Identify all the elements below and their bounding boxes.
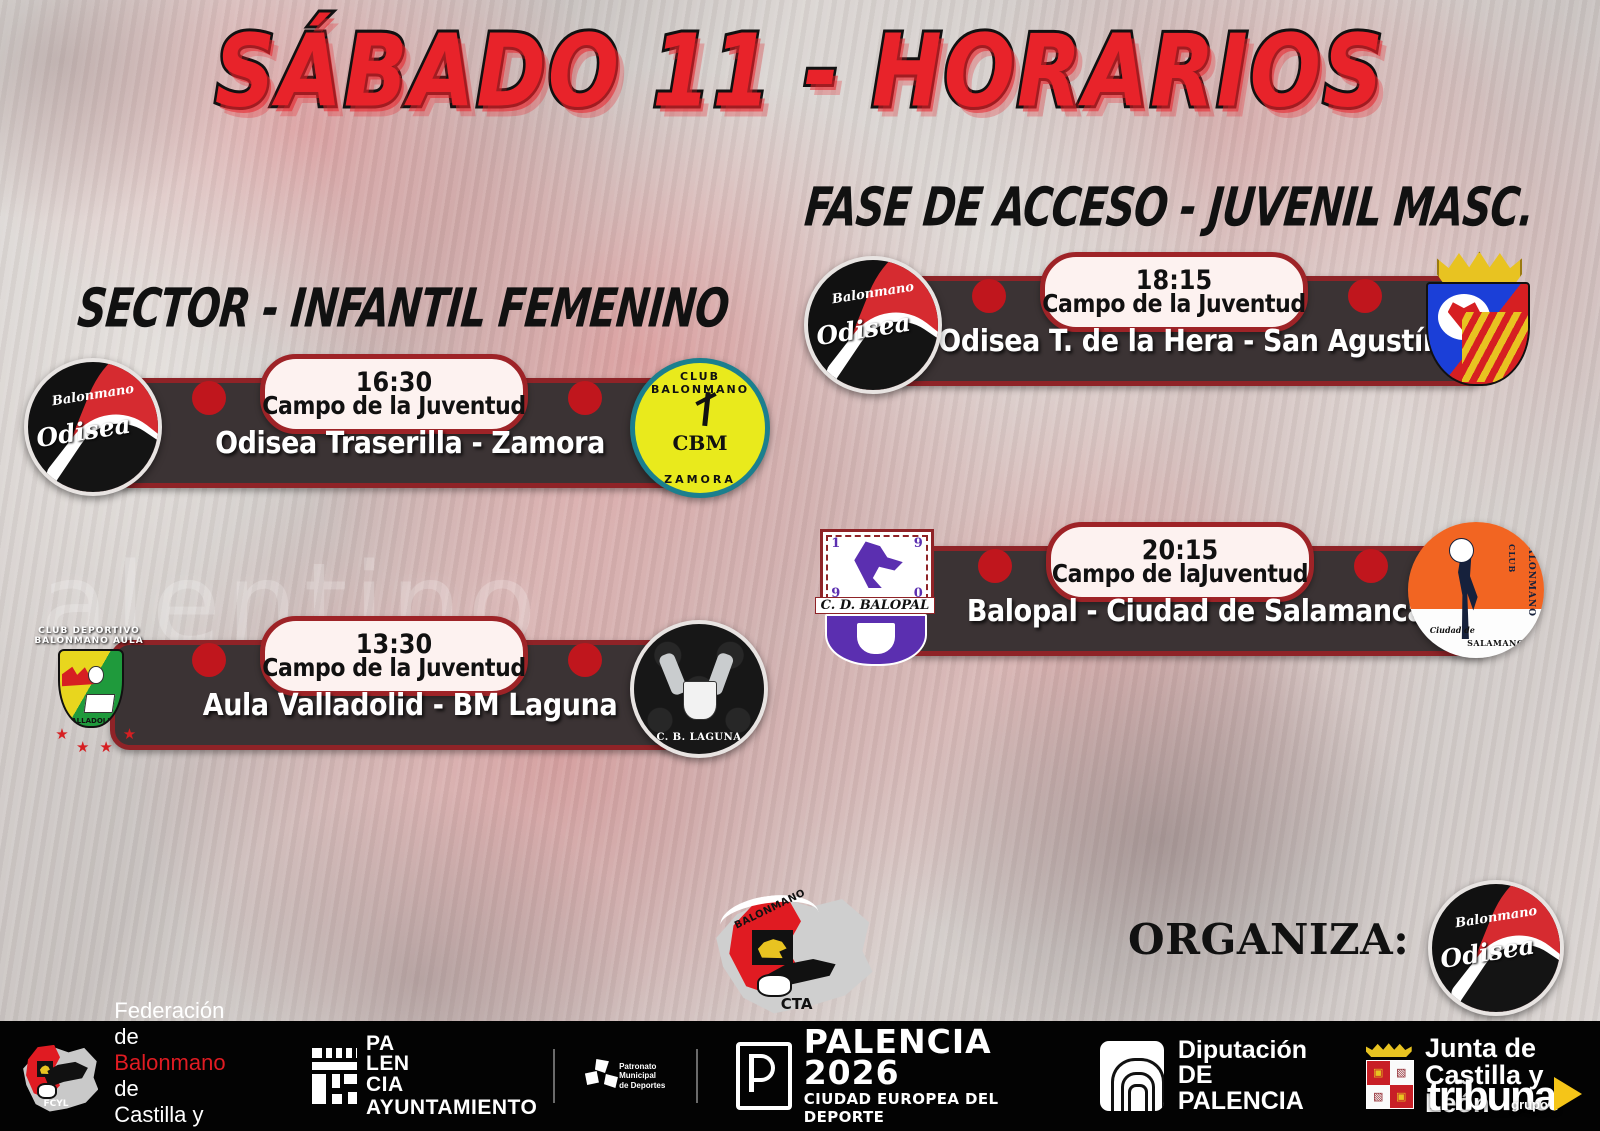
palencia-l1: PA xyxy=(366,1034,537,1054)
palencia-wordmark: PA LEN CIA AYUNTAMIENTO xyxy=(366,1034,537,1118)
sponsor-diputacion-palencia: Diputación DE PALENCIA xyxy=(1100,1038,1332,1115)
patronato-municipal-deportes: Patronato Municipal de Deportes xyxy=(585,1059,680,1093)
diputacion-arches-icon xyxy=(1100,1041,1164,1111)
match-time-pill: 20:15 Campo de laJuventud xyxy=(1046,522,1314,602)
junta-quarter-1: ▣ xyxy=(1367,1061,1390,1085)
match-teams: Aula Valladolid - BM Laguna xyxy=(130,688,690,723)
balopal-year-2: 9 xyxy=(914,536,923,551)
palencia-2026-title: PALENCIA 2026 xyxy=(804,1026,1076,1088)
away-team-logo-bm-laguna: C. B. LAGUNA xyxy=(630,620,760,750)
aula-logo-city: VALLADOLID xyxy=(60,717,122,725)
balopal-year-1: 1 xyxy=(831,536,840,551)
poster: alentino SÁBADO 11 - HORARIOS SECTOR - I… xyxy=(0,0,1600,1131)
match-venue: Campo de laJuventud xyxy=(1052,561,1308,587)
fcyl-map-icon: FCYL xyxy=(20,1039,98,1113)
palencia-2026-p-icon xyxy=(736,1042,792,1110)
connector-dot-right xyxy=(568,643,602,677)
patronato-line1: Patronato Municipal xyxy=(619,1062,680,1081)
connector-dot-right xyxy=(1348,279,1382,313)
connector-dot-left xyxy=(972,279,1006,313)
home-team-logo-odisea: Balonmano Odisea xyxy=(24,358,154,488)
match-teams: Odisea T. de la Hera - San Agustín xyxy=(910,324,1470,359)
organiza-label: ORGANIZA: xyxy=(1128,915,1409,964)
fcyl-line2-red: Balonmano xyxy=(114,1050,225,1075)
home-team-logo-balopal: 1 9 9 0 C. D. BALOPAL xyxy=(810,520,938,662)
palencia-l3: CIA xyxy=(366,1075,537,1095)
match-time-pill: 18:15 Campo de la Juventud xyxy=(1040,252,1308,332)
match-card[interactable]: 13:30 Campo de la Juventud Aula Valladol… xyxy=(20,612,760,757)
zamora-logo-monogram: CBM xyxy=(635,431,765,455)
match-teams: Balopal - Ciudad de Salamanca xyxy=(916,594,1476,629)
connector-dot-left xyxy=(192,381,226,415)
palencia-l2: LEN xyxy=(366,1054,537,1074)
cta-referees-logo: BALONMANO CTA xyxy=(706,886,876,1016)
junta-quarter-2: ▧ xyxy=(1390,1061,1413,1085)
home-team-logo-aula-valladolid: CLUB DEPORTIVO BALONMANO AULA VALLADOLID… xyxy=(24,620,154,750)
salamanca-logo-word1: BALONMANO xyxy=(1526,538,1536,617)
sponsor-footer: FCYL Federación de Balonmano de Castilla… xyxy=(0,1021,1600,1131)
patronato-petals-icon xyxy=(585,1059,612,1093)
salamanca-logo-city1: Ciudad de xyxy=(1430,625,1475,635)
section-heading-juvenil-masculino: FASE DE ACCESO - JUVENIL MASC. xyxy=(802,177,1536,239)
match-card[interactable]: 20:15 Campo de laJuventud Balopal - Ciud… xyxy=(806,518,1546,663)
connector-dot-right xyxy=(568,381,602,415)
palencia-pixel-icon xyxy=(312,1048,357,1104)
away-team-logo-ciudad-de-salamanca: BALONMANO CLUB Ciudad de SALAMANCA xyxy=(1408,522,1544,658)
sponsor-fcyl: FCYL Federación de Balonmano de Castilla… xyxy=(0,998,246,1131)
salamanca-logo-word2: CLUB xyxy=(1507,544,1517,573)
section-heading-infantil-femenino: SECTOR - INFANTIL FEMENINO xyxy=(75,278,731,340)
palencia-2026-subtitle: CIUDAD EUROPEA DEL DEPORTE xyxy=(804,1090,1076,1126)
fcyl-line2-rest: de xyxy=(114,1076,138,1101)
fcyl-name: Federación de Balonmano de Castilla y Le… xyxy=(114,998,245,1131)
match-card[interactable]: 16:30 Campo de la Juventud Odisea Traser… xyxy=(20,350,760,495)
fcyl-line1: Federación de xyxy=(114,998,245,1050)
page-title: SÁBADO 11 - HORARIOS xyxy=(0,14,1600,130)
connector-dot-left xyxy=(192,643,226,677)
fcyl-tag: FCYL xyxy=(43,1099,68,1109)
tribuna-sub: grupo xyxy=(1511,1097,1548,1112)
diputacion-line2: DE PALENCIA xyxy=(1178,1063,1332,1114)
palencia-ayuntamiento: AYUNTAMIENTO xyxy=(366,1098,537,1118)
balopal-logo-title: C. D. BALOPAL xyxy=(815,597,935,614)
match-time-pill: 13:30 Campo de la Juventud xyxy=(260,616,528,696)
aula-logo-arc-text: CLUB DEPORTIVO BALONMANO AULA xyxy=(24,626,154,646)
zamora-logo-top-text: CLUB BALONMANO xyxy=(635,370,765,396)
diputacion-line1: Diputación xyxy=(1178,1038,1332,1064)
match-venue: Campo de la Juventud xyxy=(262,655,526,681)
match-card[interactable]: 18:15 Campo de la Juventud Odisea T. de … xyxy=(800,248,1540,393)
sponsor-palencia-2026: PALENCIA 2026 CIUDAD EUROPEA DEL DEPORTE xyxy=(736,1026,1076,1126)
patronato-line2: de Deportes xyxy=(619,1081,680,1091)
organizer-logo-odisea: Balonmano Odisea xyxy=(1428,880,1556,1008)
match-time-pill: 16:30 Campo de la Juventud xyxy=(260,354,528,434)
junta-quarter-4: ▣ xyxy=(1390,1085,1413,1109)
away-team-logo-zamora: CLUB BALONMANO CBM ZAMORA xyxy=(630,358,760,488)
junta-shield-icon: ▣ ▧ ▧ ▣ xyxy=(1360,1043,1413,1109)
junta-line1: Junta de xyxy=(1425,1035,1600,1063)
home-team-logo-odisea: Balonmano Odisea xyxy=(804,256,934,386)
tribuna-arrow-icon xyxy=(1554,1077,1582,1111)
match-venue: Campo de la Juventud xyxy=(262,393,526,419)
away-team-logo-san-agustin xyxy=(1406,248,1546,388)
match-teams: Odisea Traserilla - Zamora xyxy=(130,426,690,461)
sponsor-ayuntamiento-palencia: PA LEN CIA AYUNTAMIENTO Patronato Munici… xyxy=(286,1034,681,1118)
junta-quarter-3: ▧ xyxy=(1367,1085,1390,1109)
zamora-logo-bottom-text: ZAMORA xyxy=(635,473,765,486)
salamanca-logo-city2: SALAMANCA xyxy=(1467,638,1530,648)
fcyl-line3: Castilla y León xyxy=(114,1102,245,1131)
laguna-logo-title: C. B. LAGUNA xyxy=(634,732,764,743)
match-venue: Campo de la Juventud xyxy=(1042,291,1306,317)
cta-logo-label: CTA xyxy=(781,995,813,1013)
connector-dot-right xyxy=(1354,549,1388,583)
connector-dot-left xyxy=(978,549,1012,583)
tribuna-watermark: tribuna grupo xyxy=(1427,1077,1582,1115)
